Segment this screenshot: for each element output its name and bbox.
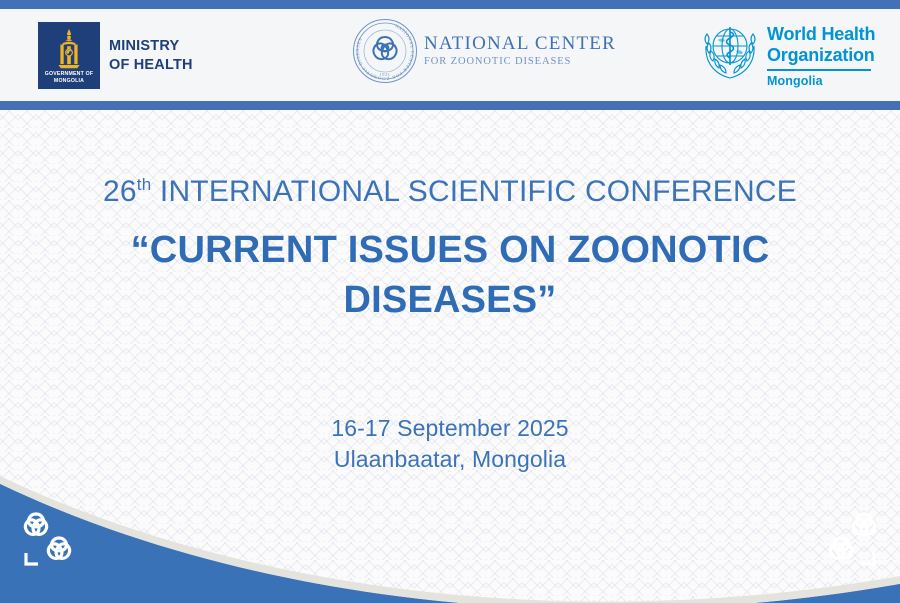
who-name-line1: World Health <box>767 24 875 45</box>
nczd-wordmark: NATIONAL CENTER FOR ZOONOTIC DISEASES <box>424 33 616 69</box>
mongolia-government-emblem: GOVERNMENT OF MONGOLIA <box>38 22 100 89</box>
conference-ordinal-suffix: th <box>137 175 152 194</box>
nczd-subtitle: FOR ZOONOTIC DISEASES <box>424 55 616 69</box>
ministry-name-line1: MINISTRY <box>109 37 193 56</box>
conference-theme: “CURRENT ISSUES ON ZOONOTIC DISEASES” <box>0 225 900 325</box>
who-underline-divider <box>767 69 871 71</box>
who-country-label: Mongolia <box>767 74 875 88</box>
conference-title-slide: GOVERNMENT OF MONGOLIA MINISTRY OF HEALT… <box>0 0 900 603</box>
conference-number: 26 <box>103 175 137 208</box>
emblem-caption-line1: GOVERNMENT OF <box>38 71 100 78</box>
ministry-of-health-name: MINISTRY OF HEALTH <box>109 37 193 75</box>
conference-theme-line2: DISEASES” <box>0 275 900 325</box>
who-logo: World Health Organization Mongolia <box>700 20 875 88</box>
header-bottom-accent-rule <box>0 101 900 110</box>
title-block: 26th INTERNATIONAL SCIENTIFIC CONFERENCE… <box>0 172 900 325</box>
nczd-circular-seal-biohazard-icon: NATIONAL CENTER FOR ZOONOTIC DISEASES 19… <box>352 18 418 84</box>
mongolian-ulzii-knot-ornament-icon <box>14 501 90 573</box>
ministry-of-health-logo: GOVERNMENT OF MONGOLIA MINISTRY OF HEALT… <box>38 22 193 89</box>
emblem-caption-line2: MONGOLIA <box>38 78 100 85</box>
government-emblem-caption: GOVERNMENT OF MONGOLIA <box>38 71 100 85</box>
mongolian-ulzii-knot-ornament-icon <box>810 501 886 573</box>
event-date: 16-17 September 2025 <box>0 413 900 444</box>
conference-heading-text: INTERNATIONAL SCIENTIFIC CONFERENCE <box>151 175 797 208</box>
svg-text:1931: 1931 <box>380 72 391 77</box>
ministry-name-line2: OF HEALTH <box>109 56 193 75</box>
footer-wave-decoration <box>0 458 900 603</box>
who-rod-of-asclepius-globe-laurel-icon <box>700 20 760 82</box>
conference-heading: 26th INTERNATIONAL SCIENTIFIC CONFERENCE <box>0 172 900 212</box>
who-name-line2: Organization <box>767 45 875 66</box>
who-wordmark: World Health Organization Mongolia <box>767 20 875 88</box>
nczd-title: NATIONAL CENTER <box>424 33 616 55</box>
national-center-zoonotic-diseases-logo: NATIONAL CENTER FOR ZOONOTIC DISEASES 19… <box>352 18 616 84</box>
mongolia-state-emblem-soyombo-icon <box>54 27 84 76</box>
conference-theme-line1: “CURRENT ISSUES ON ZOONOTIC <box>0 225 900 275</box>
top-accent-rule <box>0 0 900 9</box>
